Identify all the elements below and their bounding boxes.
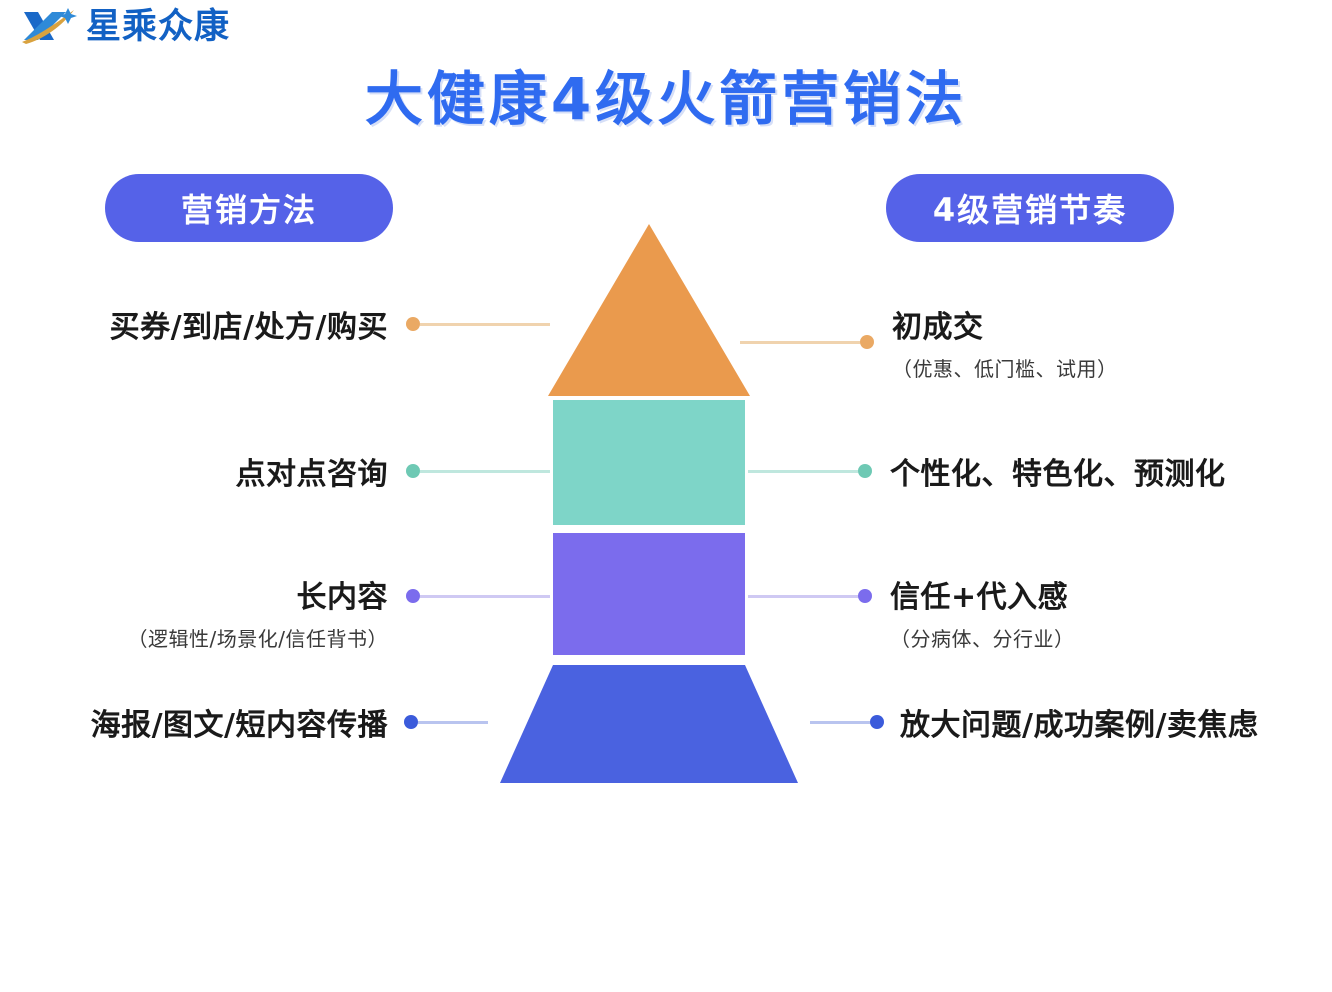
- tier-1-right-text: 初成交 （优惠、低门槛、试用）: [892, 302, 1118, 382]
- tier-4-left-line: [418, 721, 488, 724]
- tier-4-right-text: 放大问题/成功案例/卖焦虑: [900, 700, 1258, 744]
- tier-2-shape: [553, 400, 745, 525]
- tier-3-right-sub: （分病体、分行业）: [890, 623, 1075, 652]
- tier-2-right-text: 个性化、特色化、预测化: [890, 449, 1226, 493]
- tier-4-right-dot: [870, 715, 884, 729]
- header-pill-marketing-rhythm: 4级营销节奏: [886, 174, 1174, 242]
- tier-3-left-dot: [406, 589, 420, 603]
- tier-1-right-line: [740, 341, 860, 344]
- tier-4-left-text: 海报/图文/短内容传播: [48, 700, 388, 744]
- tier-3-shape: [553, 533, 745, 655]
- tier-3-right-row: 信任+代入感 （分病体、分行业）: [748, 572, 1075, 652]
- brand-name: 星乘众康: [86, 10, 230, 45]
- tier-2-left-text: 点对点咨询: [78, 449, 388, 493]
- tier-1-left-text: 买券/到店/处方/购买: [78, 302, 388, 346]
- tier-1-left-line: [420, 323, 550, 326]
- tier-3-right-text: 信任+代入感 （分病体、分行业）: [890, 572, 1075, 652]
- tier-3-left-line: [420, 595, 550, 598]
- tier-3-right-line: [748, 595, 858, 598]
- tier-2-left-main: 点对点咨询: [78, 449, 388, 493]
- tier-1-left-dot: [406, 317, 420, 331]
- tier-1-right-row: 初成交 （优惠、低门槛、试用）: [740, 302, 1118, 382]
- tier-1-left-main: 买券/到店/处方/购买: [78, 302, 388, 346]
- tier-2-left-dot: [406, 464, 420, 478]
- tier-4-left-main: 海报/图文/短内容传播: [48, 700, 388, 744]
- tier-4-right-row: 放大问题/成功案例/卖焦虑: [810, 700, 1258, 744]
- tier-1-right-sub: （优惠、低门槛、试用）: [892, 353, 1118, 382]
- tier-1-right-dot: [860, 335, 874, 349]
- tier-3-right-main: 信任+代入感: [890, 572, 1075, 616]
- tier-3-left-row: 长内容 （逻辑性/场景化/信任背书）: [78, 572, 550, 652]
- tier-2-left-row: 点对点咨询: [78, 449, 550, 493]
- tier-3-left-text: 长内容 （逻辑性/场景化/信任背书）: [78, 572, 388, 652]
- brand-logo: 星乘众康: [18, 6, 230, 48]
- tier-2-right-dot: [858, 464, 872, 478]
- tier-2-left-line: [420, 470, 550, 473]
- tier-2-right-line: [748, 470, 858, 473]
- tier-4-left-dot: [404, 715, 418, 729]
- header-pill-left-label: 营销方法: [181, 185, 317, 231]
- tier-2-right-main: 个性化、特色化、预测化: [890, 449, 1226, 493]
- tier-1-right-main: 初成交: [892, 302, 1118, 346]
- tier-3-left-sub: （逻辑性/场景化/信任背书）: [78, 623, 388, 652]
- x-swoosh-logo-icon: [18, 6, 80, 48]
- tier-3-left-main: 长内容: [78, 572, 388, 616]
- tier-3-right-dot: [858, 589, 872, 603]
- tier-4-right-main: 放大问题/成功案例/卖焦虑: [900, 700, 1258, 744]
- header-pill-right-label: 4级营销节奏: [933, 185, 1127, 231]
- tier-4-right-line: [810, 721, 870, 724]
- tier-4-left-row: 海报/图文/短内容传播: [48, 700, 488, 744]
- tier-4-shape: [500, 665, 798, 787]
- tier-1-left-row: 买券/到店/处方/购买: [78, 302, 550, 346]
- page-title: 大健康4级火箭营销法: [0, 52, 1332, 136]
- header-pill-marketing-method: 营销方法: [105, 174, 393, 242]
- tier-1-shape: [548, 224, 750, 396]
- tier-2-right-row: 个性化、特色化、预测化: [748, 449, 1226, 493]
